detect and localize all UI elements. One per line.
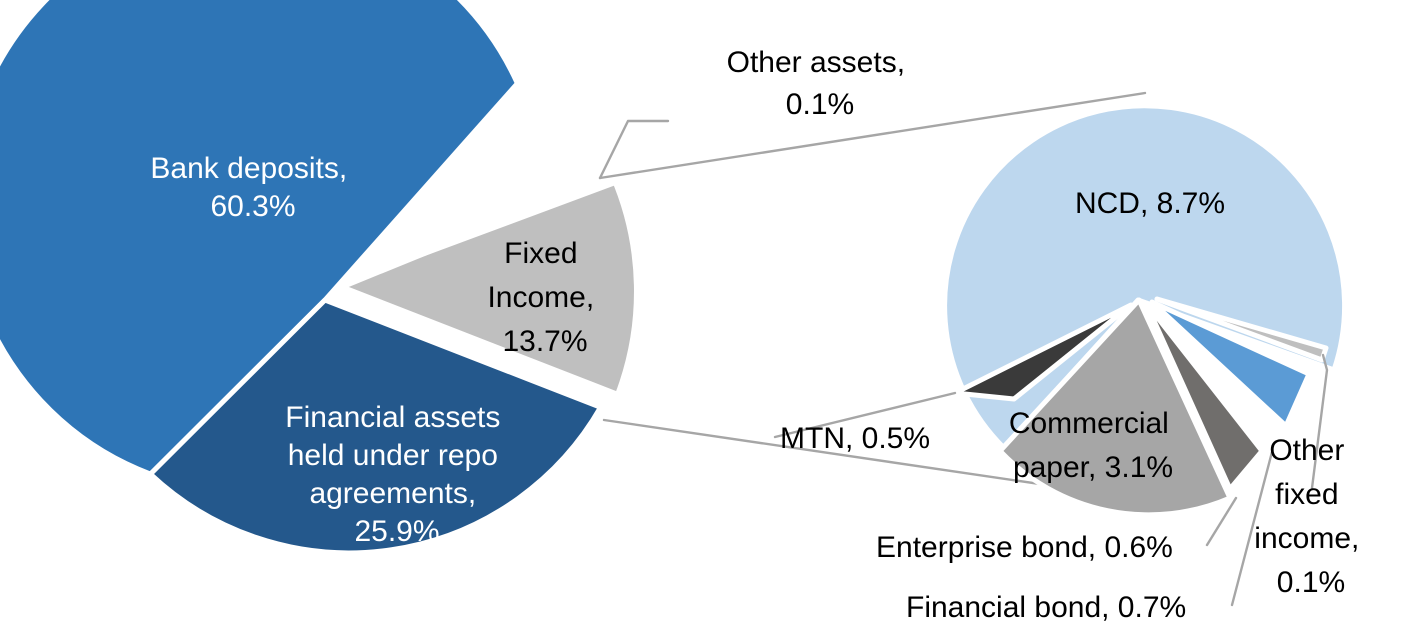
label-repo-line1: Financial assets [285,401,500,434]
callout-mtn: MTN, 0.5% [780,422,930,455]
callout-financial-bond: Financial bond, 0.7% [906,591,1186,624]
callout-other-assets: Other assets, 0.1% [727,46,914,121]
label-commercial-paper-line2: paper, 3.1% [1013,451,1173,484]
chart-canvas: Bank deposits, 60.3% Financial assets he… [0,0,1404,644]
label-repo-line2: held under repo [288,439,498,472]
callout-other-assets-line1: Other assets, [727,46,905,79]
label-fixed-income-line2: Income, [487,281,594,314]
label-fixed-income-line1: Fixed [504,237,577,270]
label-fixed-income: Fixed Income, 13.7% [487,237,602,358]
left-pie-group: Bank deposits, 60.3% Financial assets he… [0,0,636,553]
label-repo-line3: agreements, [309,477,476,510]
callout-other-assets-line2: 0.1% [786,88,854,121]
label-bank-deposits-line1: Bank deposits, [150,152,347,185]
callout-ofi-line4: 0.1% [1277,566,1345,599]
leader-line-other-fixed-income [1312,355,1327,488]
callout-enterprise-bond: Enterprise bond, 0.6% [876,531,1173,564]
pie-chart-figure: Bank deposits, 60.3% Financial assets he… [0,0,1404,644]
label-repo-line4: 25.9% [354,515,439,548]
label-bank-deposits-line2: 60.3% [210,190,295,223]
label-ncd: NCD, 8.7% [1075,187,1225,220]
label-commercial-paper-line1: Commercial [1009,407,1169,440]
callout-ofi-line3: income, [1254,522,1359,555]
callout-ofi-line2: fixed [1275,478,1338,511]
callout-other-fixed-income: Other fixed income, 0.1% [1254,434,1367,599]
label-fixed-income-line3: 13.7% [502,325,587,358]
callout-ofi-line1: Other [1269,434,1344,467]
